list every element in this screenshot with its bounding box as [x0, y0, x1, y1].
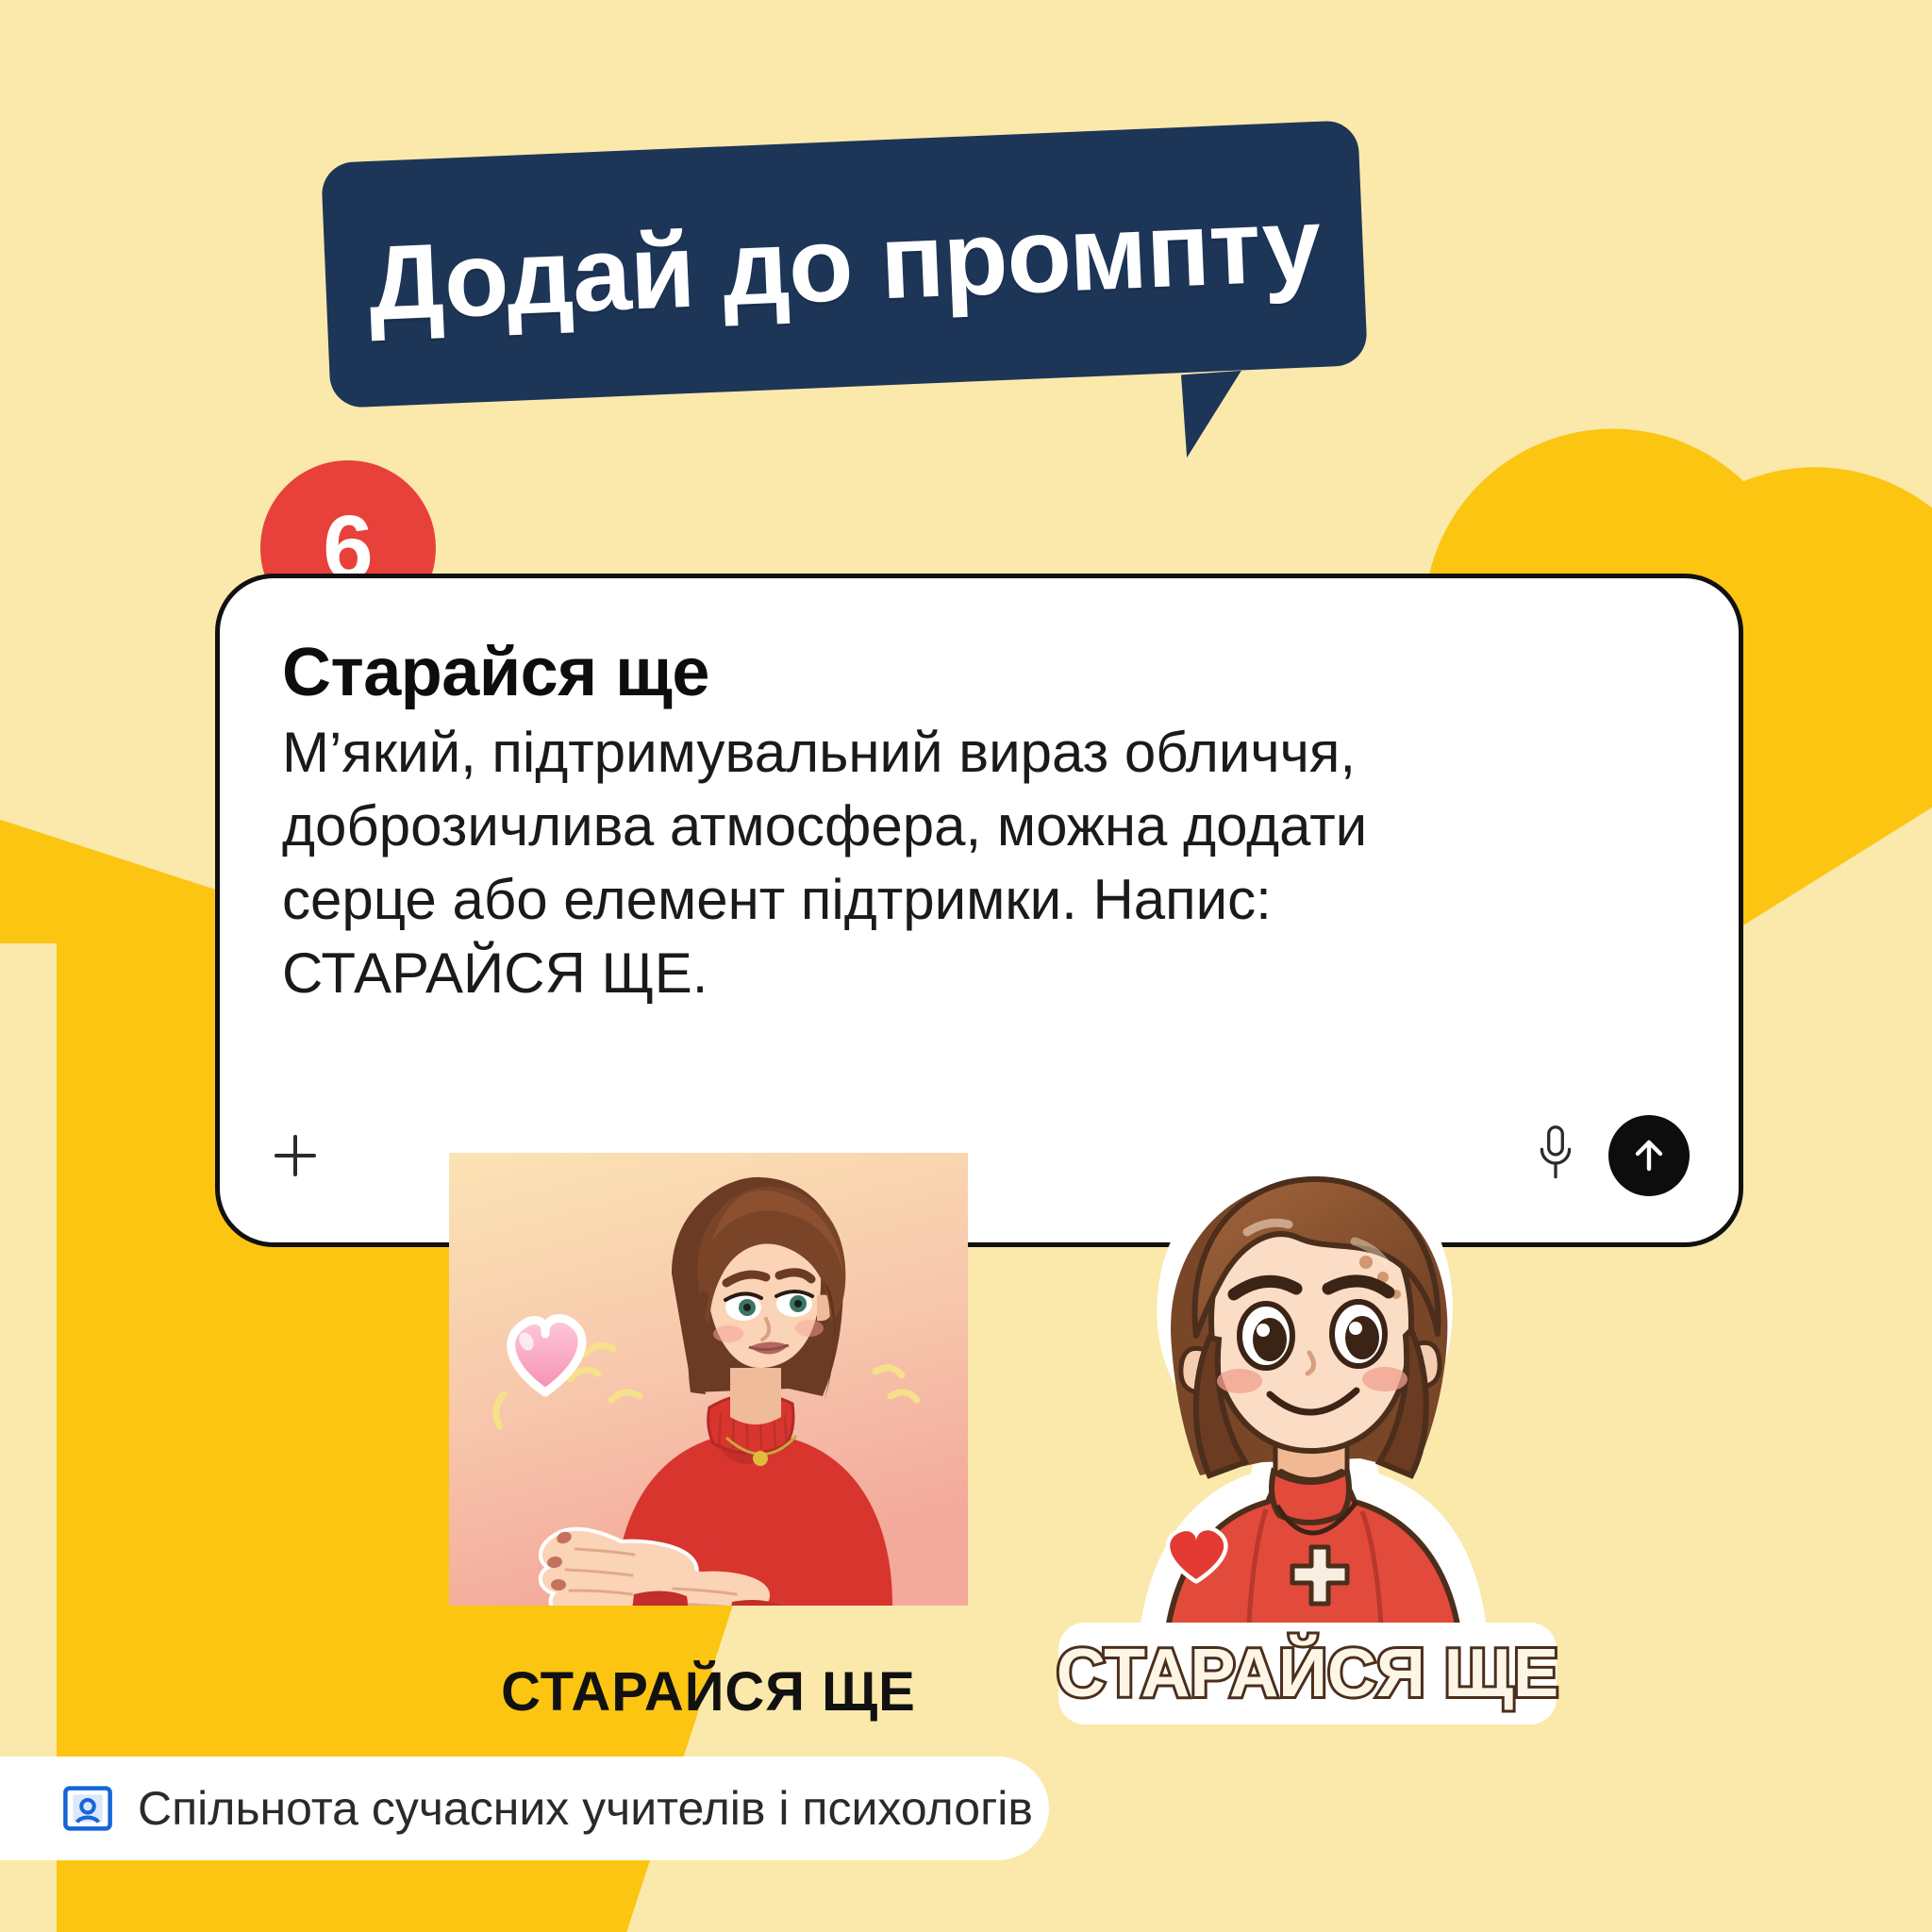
plus-icon[interactable] [269, 1129, 322, 1182]
prompt-card: Старайся ще М’який, підтримувальний вира… [215, 574, 1743, 1247]
community-badge-icon [62, 1783, 113, 1834]
sticker-caption-left: СТАРАЙСЯ ЩЕ [449, 1660, 968, 1724]
sticker-caption-right: СТАРАЙСЯ ЩЕ [1057, 1634, 1558, 1711]
footer-bar: Спільнота сучасних учителів і психологів [0, 1757, 1049, 1860]
speech-bubble-tail [1181, 371, 1247, 458]
page-title: Додай до промпту [366, 192, 1322, 337]
cartoon-girl-with-heart-illustration: СТАРАЙСЯ ЩЕ [1043, 1151, 1572, 1736]
prompt-card-title: Старайся ще [282, 637, 1676, 708]
footer-label: Спільнота сучасних учителів і психологів [138, 1781, 1033, 1836]
poster-canvas: Додай до промпту 6 Старайся ще М’який, п… [0, 0, 1932, 1932]
prompt-card-body: М’який, підтримувальний вираз обличчя, д… [282, 716, 1537, 1010]
title-speech-bubble: Додай до промпту [321, 120, 1368, 408]
woman-holding-heart-illustration [449, 1153, 968, 1719]
send-button[interactable] [1608, 1115, 1690, 1196]
arrow-up-icon [1626, 1133, 1672, 1178]
